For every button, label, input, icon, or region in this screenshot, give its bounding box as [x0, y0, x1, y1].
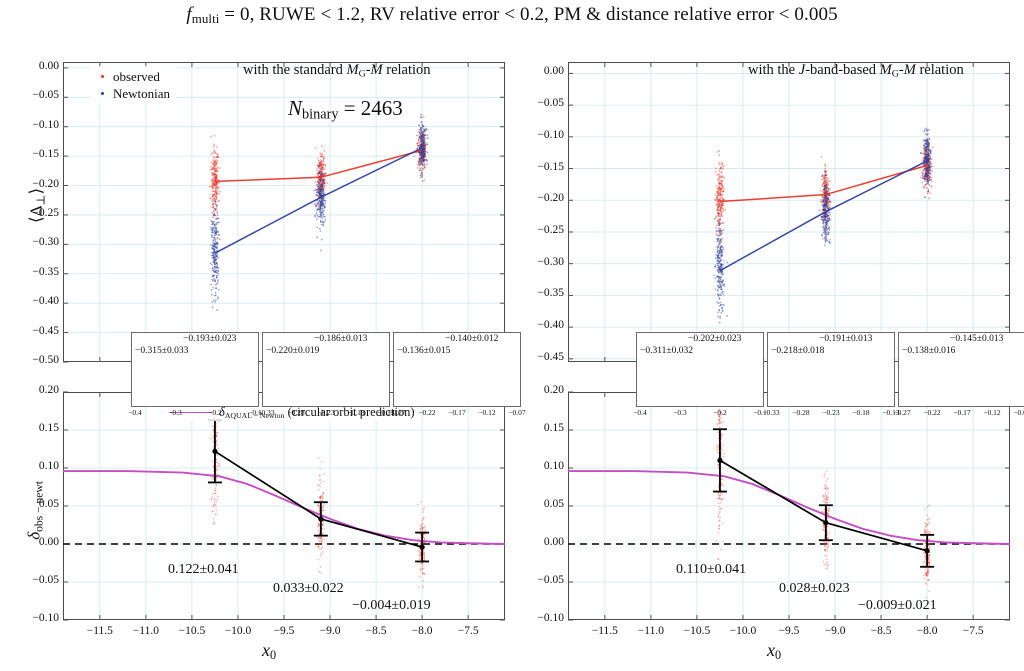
inset-newtonian-value: −0.136±0.015	[397, 346, 450, 356]
inset-tick-label: −0.22	[411, 408, 443, 417]
y-tick-label: 0.15	[17, 422, 59, 434]
panel-title-top-right: with the J-band-based MG-M relation	[748, 62, 964, 79]
y-tick-label: 0.10	[17, 460, 59, 472]
annotation-br-0: 0.110±0.041	[676, 562, 746, 578]
x-tick-label: −11.5	[76, 625, 124, 637]
inset-tick-label: −0.28	[785, 408, 817, 417]
inset-tick-label: −0.17	[946, 408, 978, 417]
y-tick-label: −0.30	[522, 256, 564, 268]
observed-marker-icon	[101, 75, 104, 78]
x-tick-label: −8.0	[398, 625, 446, 637]
x-tick-label: −9.0	[306, 625, 354, 637]
annotation-bl-1: 0.033±0.022	[273, 581, 344, 597]
x-tick-label: −7.5	[444, 625, 492, 637]
inset-tick-label: −0.4	[624, 408, 656, 417]
xlabel-sub: 0	[270, 648, 276, 662]
x-tick-label: −11.0	[122, 625, 170, 637]
legend-label-newtonian: Newtonian	[113, 86, 170, 102]
title-m: M	[371, 62, 383, 78]
inset-tick-label: −0.28	[280, 408, 312, 417]
title-pre-r: with the	[748, 62, 799, 78]
inset-tick-label: −0.23	[310, 408, 342, 417]
title-band: -band-based	[805, 62, 879, 78]
title-mg-sub: G	[359, 68, 366, 79]
y-tick-label: −0.20	[522, 192, 564, 204]
xlabel-symbol-right: x	[767, 640, 775, 660]
y-tick-label: 0.00	[522, 536, 564, 548]
inset-observed-value: −0.145±0.013	[950, 334, 1003, 344]
inset-tick-label: −0.3	[664, 408, 696, 417]
nbinary-symbol: N	[288, 96, 302, 120]
y-tick-label: −0.50	[17, 354, 59, 366]
y-tick-label: −0.25	[522, 224, 564, 236]
y-tick-label: −0.05	[17, 574, 59, 586]
x-tick-label: −7.5	[949, 625, 997, 637]
xlabel-symbol: x	[262, 640, 270, 660]
x-tick-label: −9.5	[765, 625, 813, 637]
x-tick-label: −8.0	[903, 625, 951, 637]
y-tick-label: −0.45	[522, 351, 564, 363]
nbinary-sub: binary	[302, 107, 338, 123]
inset-tick-label: −0.27	[886, 408, 918, 417]
legend-item-newtonian[interactable]: Newtonian	[94, 85, 170, 102]
y-tick-label: −0.45	[17, 325, 59, 337]
inset-observed-value: −0.186±0.013	[314, 334, 367, 344]
y-tick-label: 0.00	[522, 65, 564, 77]
xlabel-sub-right: 0	[775, 648, 781, 662]
title-mg: M	[347, 62, 359, 78]
y-tick-label: −0.15	[522, 161, 564, 173]
x-axis-label-left: x0	[262, 640, 276, 663]
y-tick-label: 0.20	[17, 384, 59, 396]
inset-newtonian-value: −0.311±0.032	[640, 346, 693, 356]
inset-tick-label: −0.4	[119, 408, 151, 417]
inset-newtonian-value: −0.315±0.033	[135, 346, 188, 356]
inset-tick-label: −0.07	[1006, 408, 1024, 417]
ylabel-sub: ⊥	[34, 195, 47, 206]
inset-tick-label: −0.12	[471, 408, 503, 417]
y-tick-label: −0.10	[522, 129, 564, 141]
y-tick-label: 0.20	[522, 384, 564, 396]
inset-tick-label: −0.23	[815, 408, 847, 417]
title-post: relation	[383, 62, 431, 78]
title-pre: with the standard	[243, 62, 347, 78]
x-tick-label: −11.0	[627, 625, 675, 637]
legend-item-observed[interactable]: observed	[94, 68, 170, 85]
y-tick-label: −0.40	[522, 319, 564, 331]
inset-newtonian-value: −0.218±0.018	[771, 346, 824, 356]
y-tick-label: 0.00	[17, 60, 59, 72]
nbinary-annotation: Nbinary = 2463	[288, 96, 403, 124]
x-tick-label: −9.0	[811, 625, 859, 637]
annotation-bl-0: 0.122±0.041	[168, 562, 239, 578]
y-axis-label-bottom-left: δobs − newt	[25, 435, 46, 585]
nbinary-value: = 2463	[338, 96, 402, 120]
inset-observed-value: −0.191±0.013	[819, 334, 872, 344]
legend-top-left[interactable]: observed Newtonian	[90, 66, 176, 104]
inset-tick-label: −0.33	[250, 408, 282, 417]
x-tick-label: −10.0	[214, 625, 262, 637]
inset-tick-label: −0.33	[755, 408, 787, 417]
inset-tick-label: −0.17	[441, 408, 473, 417]
figure-root: fmulti = 0, RUWE < 1.2, RV relative erro…	[0, 0, 1024, 671]
x-tick-label: −8.5	[857, 625, 905, 637]
title-mg-sub-r: G	[892, 68, 899, 79]
x-tick-label: −9.5	[260, 625, 308, 637]
y-tick-label: 0.00	[17, 536, 59, 548]
inset-tick-label: −0.18	[340, 408, 372, 417]
y-tick-label: −0.30	[17, 236, 59, 248]
annotation-br-1: 0.028±0.023	[779, 581, 850, 597]
inset-tick-label: −0.2	[704, 408, 736, 417]
inset-observed-value: −0.202±0.023	[688, 334, 741, 344]
annotation-br-2: −0.009±0.021	[858, 598, 937, 614]
annotation-bl-2: −0.004±0.019	[352, 598, 431, 614]
y-tick-label: 0.05	[17, 498, 59, 510]
inset-newtonian-value: −0.138±0.016	[902, 346, 955, 356]
x-tick-label: −10.5	[168, 625, 216, 637]
title-post-r: relation	[916, 62, 964, 78]
inset-tick-label: −0.3	[159, 408, 191, 417]
x-tick-label: −11.5	[581, 625, 629, 637]
y-tick-label: −0.35	[17, 266, 59, 278]
title-m-r: M	[904, 62, 916, 78]
panel-title-top-left: with the standard MG-M relation	[243, 62, 431, 79]
x-tick-label: −10.0	[719, 625, 767, 637]
y-tick-label: 0.05	[522, 498, 564, 510]
y-tick-label: 0.15	[522, 422, 564, 434]
inset-tick-label: −0.22	[916, 408, 948, 417]
inset-observed-value: −0.140±0.012	[445, 334, 498, 344]
x-axis-label-right: x0	[767, 640, 781, 663]
inset-newtonian-value: −0.220±0.019	[266, 346, 319, 356]
y-tick-label: −0.10	[522, 612, 564, 624]
inset-tick-label: −0.18	[845, 408, 877, 417]
x-tick-label: −8.5	[352, 625, 400, 637]
y-tick-label: −0.20	[17, 178, 59, 190]
title-mg-r: M	[880, 62, 892, 78]
y-tick-label: −0.40	[17, 295, 59, 307]
inset-observed-value: −0.193±0.023	[183, 334, 236, 344]
legend-label-observed: observed	[113, 69, 160, 85]
x-tick-label: −10.5	[673, 625, 721, 637]
inset-tick-label: −0.27	[381, 408, 413, 417]
y-tick-label: −0.35	[522, 287, 564, 299]
y-tick-label: 0.10	[522, 460, 564, 472]
y-tick-label: −0.25	[17, 207, 59, 219]
y-tick-label: −0.05	[17, 89, 59, 101]
y-tick-label: −0.10	[17, 612, 59, 624]
y-tick-label: −0.05	[522, 97, 564, 109]
inset-tick-label: −0.12	[976, 408, 1008, 417]
inset-tick-label: −0.2	[199, 408, 231, 417]
inset-tick-label: −0.07	[501, 408, 533, 417]
newtonian-marker-icon	[101, 92, 104, 95]
y-tick-label: −0.05	[522, 574, 564, 586]
y-tick-label: −0.15	[17, 148, 59, 160]
y-tick-label: −0.10	[17, 119, 59, 131]
